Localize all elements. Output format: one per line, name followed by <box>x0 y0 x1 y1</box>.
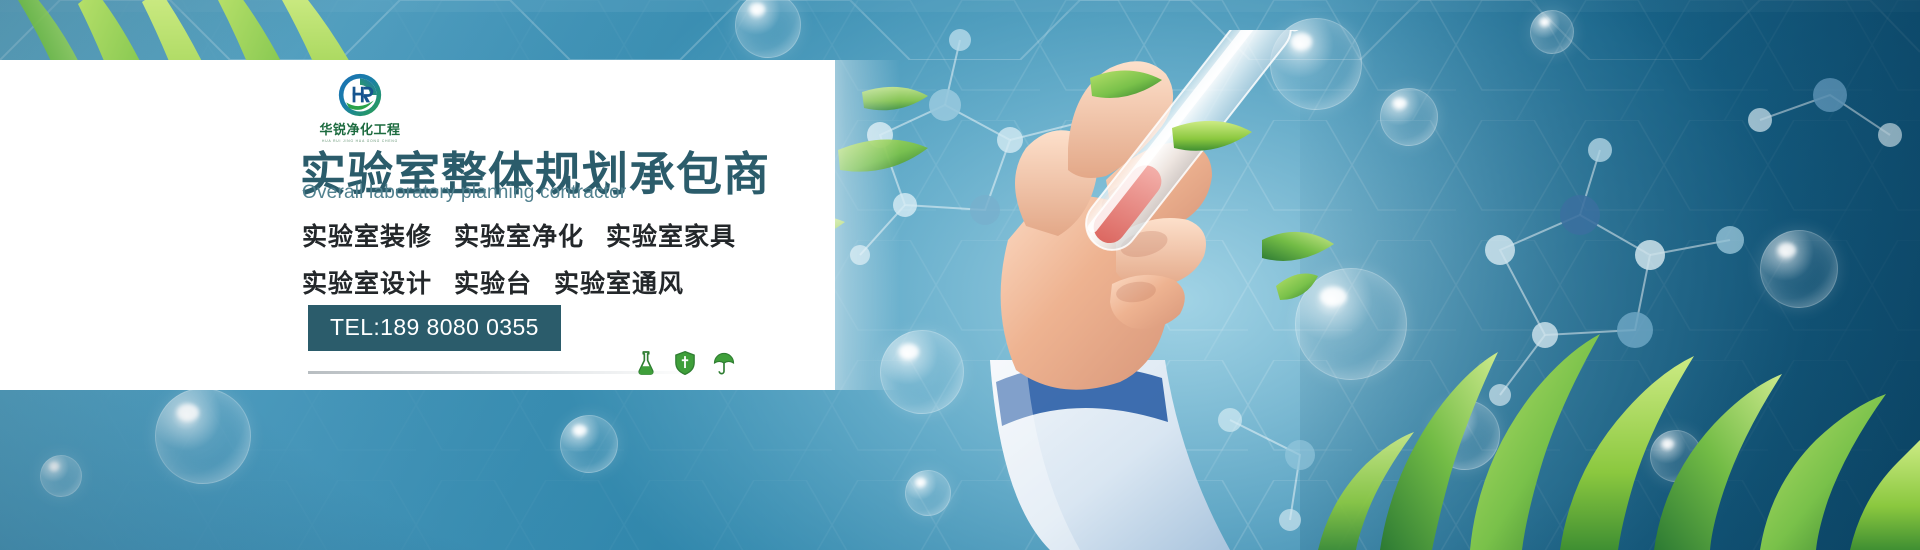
service-line-2: 实验室设计实验台实验室通风 <box>302 264 736 300</box>
logo-company-name: 华锐净化工程 <box>300 119 420 138</box>
company-logo[interactable]: 华锐净化工程 HUA RUI JING HUA GONG CHENG <box>300 72 420 143</box>
service-item: 实验室净化 <box>454 223 584 251</box>
service-item: 实验室设计 <box>302 270 432 298</box>
hand-holding-test-tube <box>930 30 1350 550</box>
flask-icon <box>635 350 657 376</box>
banner-content: 华锐净化工程 HUA RUI JING HUA GONG CHENG 实验室整体… <box>0 60 835 390</box>
laboratory-banner: 华锐净化工程 HUA RUI JING HUA GONG CHENG 实验室整体… <box>0 0 1920 550</box>
shield-icon <box>674 350 696 376</box>
service-item: 实验室通风 <box>554 270 684 298</box>
umbrella-icon <box>713 350 735 376</box>
badge-row <box>635 350 735 376</box>
service-item: 实验室装修 <box>302 223 432 251</box>
telephone-button[interactable]: TEL:189 8080 0355 <box>308 305 561 351</box>
service-line-1: 实验室装修实验室净化实验室家具 <box>302 217 736 253</box>
service-item: 实验室家具 <box>606 223 736 251</box>
page-subtitle: Overall laboratory planning contractor <box>302 182 626 204</box>
hr-circle-emblem-icon <box>337 72 383 118</box>
service-item: 实验台 <box>454 270 532 298</box>
service-list: 实验室装修实验室净化实验室家具 实验室设计实验台实验室通风 <box>302 217 736 311</box>
